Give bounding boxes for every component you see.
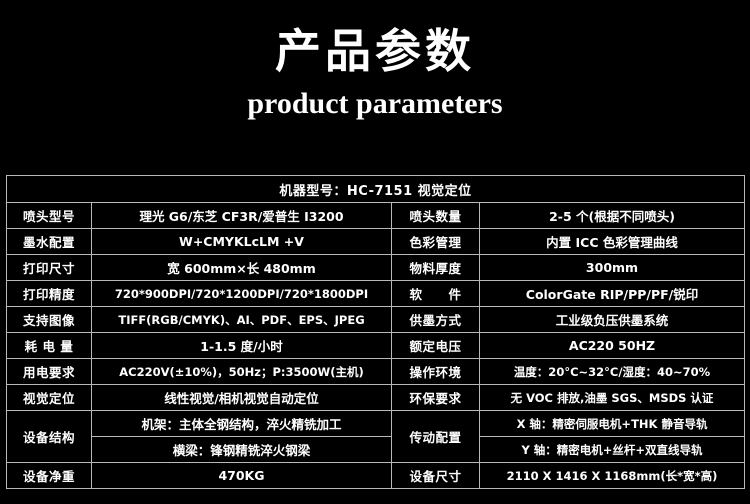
label-equipment-dimensions: 设备尺寸 [392,463,480,489]
value-software: ColorGate RIP/PP/PF/锐印 [480,281,745,307]
title-block: 产品参数 product parameters [0,0,750,123]
table-row: 支持图像 TIFF(RGB/CMYK)、AI、PDF、EPS、JPEG 供墨方式… [7,307,745,333]
table-row: 打印尺寸 宽 600mm×长 480mm 物料厚度 300mm [7,255,745,281]
value-transmission-x-axis: X 轴：精密伺服电机+THK 静音导轨 [480,411,745,437]
table-row: 打印精度 720*900DPI/720*1200DPI/720*1800DPI … [7,281,745,307]
value-equipment-structure-frame: 机架：主体全钢结构，淬火精铣加工 [92,411,392,437]
value-power-requirements: AC220V(±10%)，50Hz；P:3500W(主机) [92,359,392,385]
page-title-english: product parameters [0,84,750,123]
value-transmission-y-axis: Y 轴：精密电机+丝杆+双直线导轨 [480,437,745,463]
value-visual-positioning: 线性视觉/相机视觉自动定位 [92,385,392,411]
label-visual-positioning: 视觉定位 [7,385,92,411]
value-printhead-quantity: 2-5 个(根据不同喷头) [480,203,745,229]
value-operating-environment: 温度：20°C~32°C/湿度：40~70% [480,359,745,385]
value-power-consumption: 1-1.5 度/小时 [92,333,392,359]
table-row-equipment-structure-1: 设备结构 机架：主体全钢结构，淬火精铣加工 传动配置 X 轴：精密伺服电机+TH… [7,411,745,437]
page-title-chinese: 产品参数 [0,26,750,78]
value-equipment-structure-beam: 横梁：锋钢精铣淬火钢梁 [92,437,392,463]
label-printhead-quantity: 喷头数量 [392,203,480,229]
machine-model-header: 机器型号：HC-7151 视觉定位 [7,176,745,203]
table-row: 耗 电 量 1-1.5 度/小时 额定电压 AC220 50HZ [7,333,745,359]
label-power-consumption: 耗 电 量 [7,333,92,359]
label-print-resolution: 打印精度 [7,281,92,307]
label-print-size: 打印尺寸 [7,255,92,281]
table-row: 墨水配置 W+CMYKLcLM +V 色彩管理 内置 ICC 色彩管理曲线 [7,229,745,255]
value-ink-supply-method: 工业级负压供墨系统 [480,307,745,333]
value-ink-configuration: W+CMYKLcLM +V [92,229,392,255]
value-equipment-dimensions: 2110 X 1416 X 1168mm(长*宽*高) [480,463,745,489]
label-operating-environment: 操作环境 [392,359,480,385]
label-ink-configuration: 墨水配置 [7,229,92,255]
label-material-thickness: 物料厚度 [392,255,480,281]
label-transmission-configuration: 传动配置 [392,411,480,463]
value-rated-voltage: AC220 50HZ [480,333,745,359]
value-print-size: 宽 600mm×长 480mm [92,255,392,281]
label-supported-images: 支持图像 [7,307,92,333]
value-supported-images: TIFF(RGB/CMYK)、AI、PDF、EPS、JPEG [92,307,392,333]
label-power-requirements: 用电要求 [7,359,92,385]
specifications-table: 机器型号：HC-7151 视觉定位 喷头型号 理光 G6/东芝 CF3R/爱普生… [6,175,745,489]
value-print-resolution: 720*900DPI/720*1200DPI/720*1800DPI [92,281,392,307]
value-net-weight: 470KG [92,463,392,489]
label-equipment-structure: 设备结构 [7,411,92,463]
value-material-thickness: 300mm [480,255,745,281]
value-color-management: 内置 ICC 色彩管理曲线 [480,229,745,255]
table-row: 视觉定位 线性视觉/相机视觉自动定位 环保要求 无 VOC 排放,油墨 SGS、… [7,385,745,411]
label-net-weight: 设备净重 [7,463,92,489]
label-printhead-model: 喷头型号 [7,203,92,229]
label-ink-supply-method: 供墨方式 [392,307,480,333]
label-environmental-requirements: 环保要求 [392,385,480,411]
label-color-management: 色彩管理 [392,229,480,255]
table-row: 用电要求 AC220V(±10%)，50Hz；P:3500W(主机) 操作环境 … [7,359,745,385]
table-row-equipment-structure-2: 横梁：锋钢精铣淬火钢梁 Y 轴：精密电机+丝杆+双直线导轨 [7,437,745,463]
value-printhead-model: 理光 G6/东芝 CF3R/爱普生 I3200 [92,203,392,229]
label-software: 软 件 [392,281,480,307]
value-environmental-requirements: 无 VOC 排放,油墨 SGS、MSDS 认证 [480,385,745,411]
product-parameters-page: 产品参数 product parameters 机器型号：HC-7151 视觉定… [0,0,750,504]
table-row: 设备净重 470KG 设备尺寸 2110 X 1416 X 1168mm(长*宽… [7,463,745,489]
table-header-row: 机器型号：HC-7151 视觉定位 [7,176,745,203]
label-rated-voltage: 额定电压 [392,333,480,359]
table-row: 喷头型号 理光 G6/东芝 CF3R/爱普生 I3200 喷头数量 2-5 个(… [7,203,745,229]
